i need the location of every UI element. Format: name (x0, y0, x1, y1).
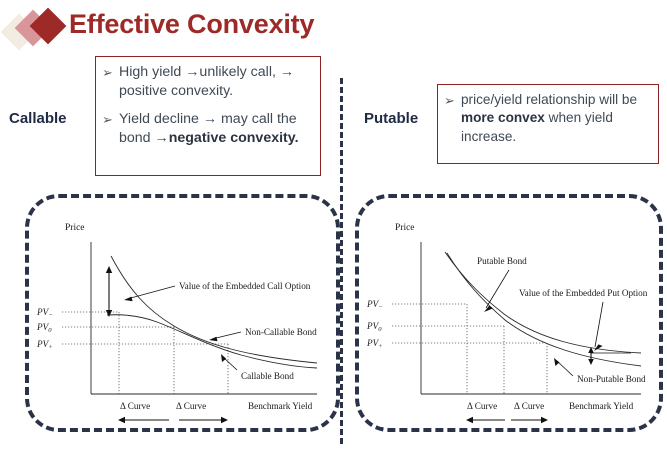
xtick-delta-1: Δ Curve (120, 401, 150, 411)
curve-non-callable (111, 256, 317, 363)
leader-non-putable (557, 361, 573, 376)
annotation-callable: Callable Bond (241, 371, 294, 381)
slide-root: Effective Convexity Callable Putable ➢ H… (0, 0, 667, 457)
annotation-non-callable: Non-Callable Bond (245, 327, 317, 337)
annotation-non-putable: Non-Putable Bond (577, 374, 646, 384)
dim-arrow-up-icon (106, 266, 112, 273)
bullet-arrow-icon: ➢ (102, 110, 119, 128)
bullet-arrow-icon: ➢ (102, 63, 119, 81)
y-axis-label: Price (65, 223, 85, 233)
bullet-arrow-icon: ➢ (444, 91, 461, 109)
leader-arrow-icon (221, 354, 226, 362)
bullet-item: ➢ High yield →unlikely call, → positive … (102, 63, 312, 101)
y-axis-label: Price (395, 223, 415, 233)
section-label-callable: Callable (9, 110, 67, 127)
leader-put-option (595, 302, 603, 347)
leader-arrow-icon (484, 306, 493, 312)
diamond-decoration-icon (4, 10, 70, 50)
leader-arrow-icon (124, 297, 133, 302)
delta-arrow-right-icon (541, 417, 548, 423)
curve-non-putable (447, 253, 641, 366)
callout-box-putable: ➢ price/yield relationship will be more … (437, 84, 659, 164)
bullet-item: ➢ Yield decline → may call the bond →neg… (102, 110, 312, 148)
page-title: Effective Convexity (69, 9, 314, 40)
dim-arrow-down-icon (106, 310, 112, 317)
xtick-delta-2: Δ Curve (514, 401, 544, 411)
curve-putable (445, 252, 641, 353)
leader-putable (486, 270, 509, 308)
xtick-delta-2: Δ Curve (176, 401, 206, 411)
bullet-text: High yield →unlikely call, → positive co… (119, 63, 312, 101)
bullet-text: Yield decline → may call the bond →negat… (119, 110, 312, 148)
x-axis-label: Benchmark Yield (248, 401, 313, 411)
x-axis-label: Benchmark Yield (569, 401, 634, 411)
ytick-pv-zero: PV0 (36, 322, 52, 334)
annotation-put-option: Value of the Embedded Put Option (519, 288, 648, 298)
callout-box-callable: ➢ High yield →unlikely call, → positive … (95, 56, 321, 176)
dim-arrow-down-icon (588, 359, 594, 365)
ytick-pv-zero: PV0 (366, 321, 382, 333)
bullet-text: price/yield relationship will be more co… (461, 91, 650, 146)
putable-chart: Price PV− PV0 PV+ Putable Bond (359, 198, 667, 436)
annotation-call-option: Value of the Embedded Call Option (179, 281, 311, 291)
title-row: Effective Convexity (0, 4, 400, 52)
ytick-pv-plus: PV+ (36, 339, 53, 351)
leader-arrow-icon (554, 358, 559, 366)
bullet-item: ➢ price/yield relationship will be more … (444, 91, 650, 146)
ytick-pv-minus: PV− (36, 307, 53, 319)
leader-arrow-icon (209, 337, 218, 342)
delta-arrow-left-icon (466, 417, 473, 423)
section-label-putable: Putable (364, 110, 418, 127)
chart-panel-callable: Price PV− PV0 PV+ Value of the (25, 194, 340, 432)
xtick-delta-1: Δ Curve (467, 401, 497, 411)
curve-callable (107, 315, 317, 368)
ytick-pv-minus: PV− (366, 299, 383, 311)
chart-panel-putable: Price PV− PV0 PV+ Putable Bond (355, 194, 663, 432)
callable-chart: Price PV− PV0 PV+ Value of the (29, 198, 344, 436)
delta-arrow-right-icon (221, 417, 228, 423)
ytick-pv-plus: PV+ (366, 338, 383, 350)
annotation-putable: Putable Bond (477, 256, 527, 266)
delta-arrow-left-icon (118, 417, 125, 423)
